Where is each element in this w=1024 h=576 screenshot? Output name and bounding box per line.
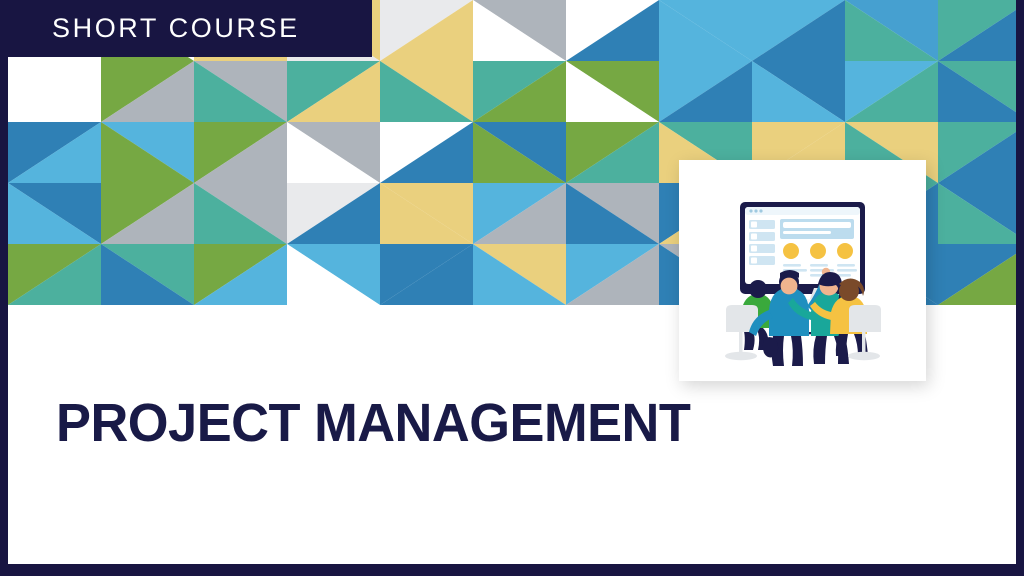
pattern-triangle [938, 0, 1016, 61]
pattern-triangle [194, 61, 287, 122]
short-course-banner: SHORT COURSE [8, 0, 372, 57]
illustration-card [679, 160, 926, 381]
pattern-cell [380, 244, 473, 305]
pattern-cell [101, 183, 194, 244]
screen-dot-3 [759, 209, 762, 212]
screen-panel-line-1 [783, 231, 831, 234]
pattern-triangle [566, 122, 659, 183]
pattern-cell [566, 122, 659, 183]
pattern-cell [287, 244, 380, 305]
team-project-meeting-illustration [679, 160, 926, 381]
pattern-triangle [101, 244, 194, 305]
pattern-cell [659, 0, 752, 61]
pattern-triangle [8, 61, 101, 122]
screen-coin-2 [810, 243, 826, 259]
pattern-cell [101, 122, 194, 183]
pattern-triangle [473, 244, 566, 305]
pattern-cell [566, 0, 659, 61]
pattern-triangle [566, 183, 659, 244]
pattern-triangle [938, 61, 1016, 122]
pattern-triangle [194, 244, 287, 305]
pattern-cell [194, 244, 287, 305]
pattern-cell [101, 244, 194, 305]
pattern-triangle [752, 61, 845, 122]
pattern-cell [752, 0, 845, 61]
pattern-cell [938, 183, 1016, 244]
pattern-cell [380, 0, 473, 61]
screen-coin-3 [837, 243, 853, 259]
pattern-cell [566, 61, 659, 122]
pattern-triangle [380, 0, 473, 61]
pattern-triangle [380, 183, 473, 244]
pattern-cell [101, 61, 194, 122]
pattern-triangle [287, 183, 380, 244]
pattern-triangle [380, 122, 473, 183]
pattern-cell [380, 183, 473, 244]
pattern-cell [938, 61, 1016, 122]
pattern-cell [473, 244, 566, 305]
slide-frame: SHORT COURSE [0, 0, 1024, 576]
screen-coin-1 [783, 243, 799, 259]
screen-dot-2 [754, 209, 757, 212]
pattern-triangle [101, 183, 194, 244]
pattern-cell [473, 183, 566, 244]
short-course-label: SHORT COURSE [8, 13, 300, 44]
pattern-cell [287, 183, 380, 244]
slide-content-area: SHORT COURSE [8, 0, 1016, 564]
pattern-triangle [845, 0, 938, 61]
pattern-triangle [101, 61, 194, 122]
pattern-triangle [659, 61, 752, 122]
pattern-triangle [752, 0, 845, 61]
pattern-triangle [473, 61, 566, 122]
pattern-cell [938, 0, 1016, 61]
pattern-cell [8, 244, 101, 305]
page-title: PROJECT MANAGEMENT [56, 392, 987, 454]
pattern-triangle [380, 244, 473, 305]
pattern-cell [473, 122, 566, 183]
pattern-cell [287, 122, 380, 183]
pattern-cell [8, 183, 101, 244]
pattern-cell [938, 122, 1016, 183]
pattern-triangle [566, 244, 659, 305]
pattern-cell [752, 61, 845, 122]
pattern-cell [194, 61, 287, 122]
pattern-cell [8, 61, 101, 122]
screen-search-field [783, 222, 851, 228]
pattern-cell [845, 61, 938, 122]
pattern-triangle [194, 122, 287, 183]
pattern-cell [845, 0, 938, 61]
pattern-triangle [938, 122, 1016, 183]
pattern-triangle [8, 122, 101, 183]
pattern-triangle [938, 183, 1016, 244]
pattern-triangle [659, 0, 752, 61]
pattern-cell [938, 244, 1016, 305]
pattern-triangle [845, 61, 938, 122]
pattern-cell [287, 61, 380, 122]
pattern-triangle [380, 61, 473, 122]
pattern-triangle [101, 122, 194, 183]
pattern-cell [380, 122, 473, 183]
pattern-cell [194, 183, 287, 244]
pattern-triangle [194, 183, 287, 244]
pattern-cell [194, 122, 287, 183]
pattern-triangle [473, 183, 566, 244]
pattern-cell [566, 183, 659, 244]
pattern-triangle [566, 61, 659, 122]
pattern-triangle [287, 61, 380, 122]
pattern-cell [380, 61, 473, 122]
pattern-triangle [8, 244, 101, 305]
pattern-cell [566, 244, 659, 305]
pattern-triangle [566, 0, 659, 61]
pattern-triangle [473, 122, 566, 183]
pattern-triangle [8, 183, 101, 244]
pattern-triangle [473, 0, 566, 61]
pattern-triangle [938, 244, 1016, 305]
pattern-triangle [287, 244, 380, 305]
pattern-cell [8, 122, 101, 183]
pattern-cell [473, 61, 566, 122]
screen-dot-1 [749, 209, 752, 212]
course-title-area: PROJECT MANAGEMENT [8, 392, 1016, 454]
pattern-cell [473, 0, 566, 61]
pattern-cell [659, 61, 752, 122]
pattern-triangle [287, 122, 380, 183]
